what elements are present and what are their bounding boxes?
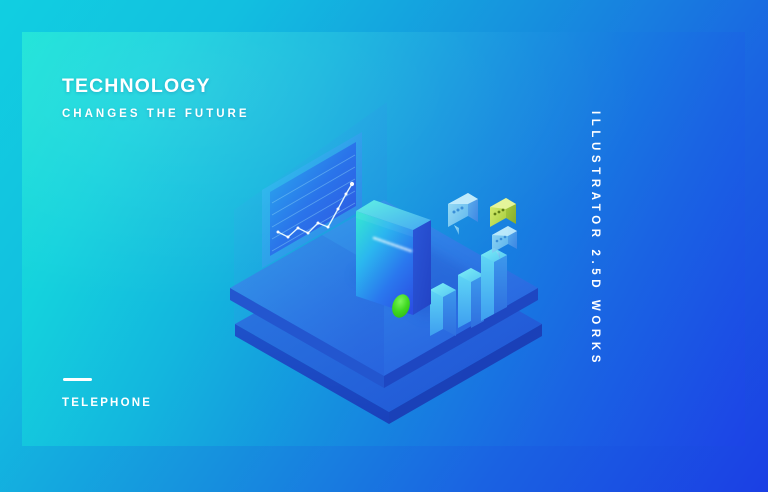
- poster-card: TECHNOLOGY CHANGES THE FUTURE TELEPHONE …: [22, 32, 745, 446]
- bar-2: [458, 268, 484, 328]
- bar-1: [430, 283, 456, 336]
- caption-label: TELEPHONE: [62, 397, 152, 409]
- side-label: ILLUSTRATOR 2.5D WORKS: [589, 111, 601, 367]
- chat-bubble-2: [490, 198, 516, 227]
- page-subtitle: CHANGES THE FUTURE: [62, 108, 250, 120]
- poster-canvas: TECHNOLOGY CHANGES THE FUTURE TELEPHONE …: [0, 0, 768, 492]
- page-title: TECHNOLOGY: [62, 75, 211, 98]
- chat-bubble-1: [448, 193, 478, 235]
- divider-rule: [63, 378, 92, 381]
